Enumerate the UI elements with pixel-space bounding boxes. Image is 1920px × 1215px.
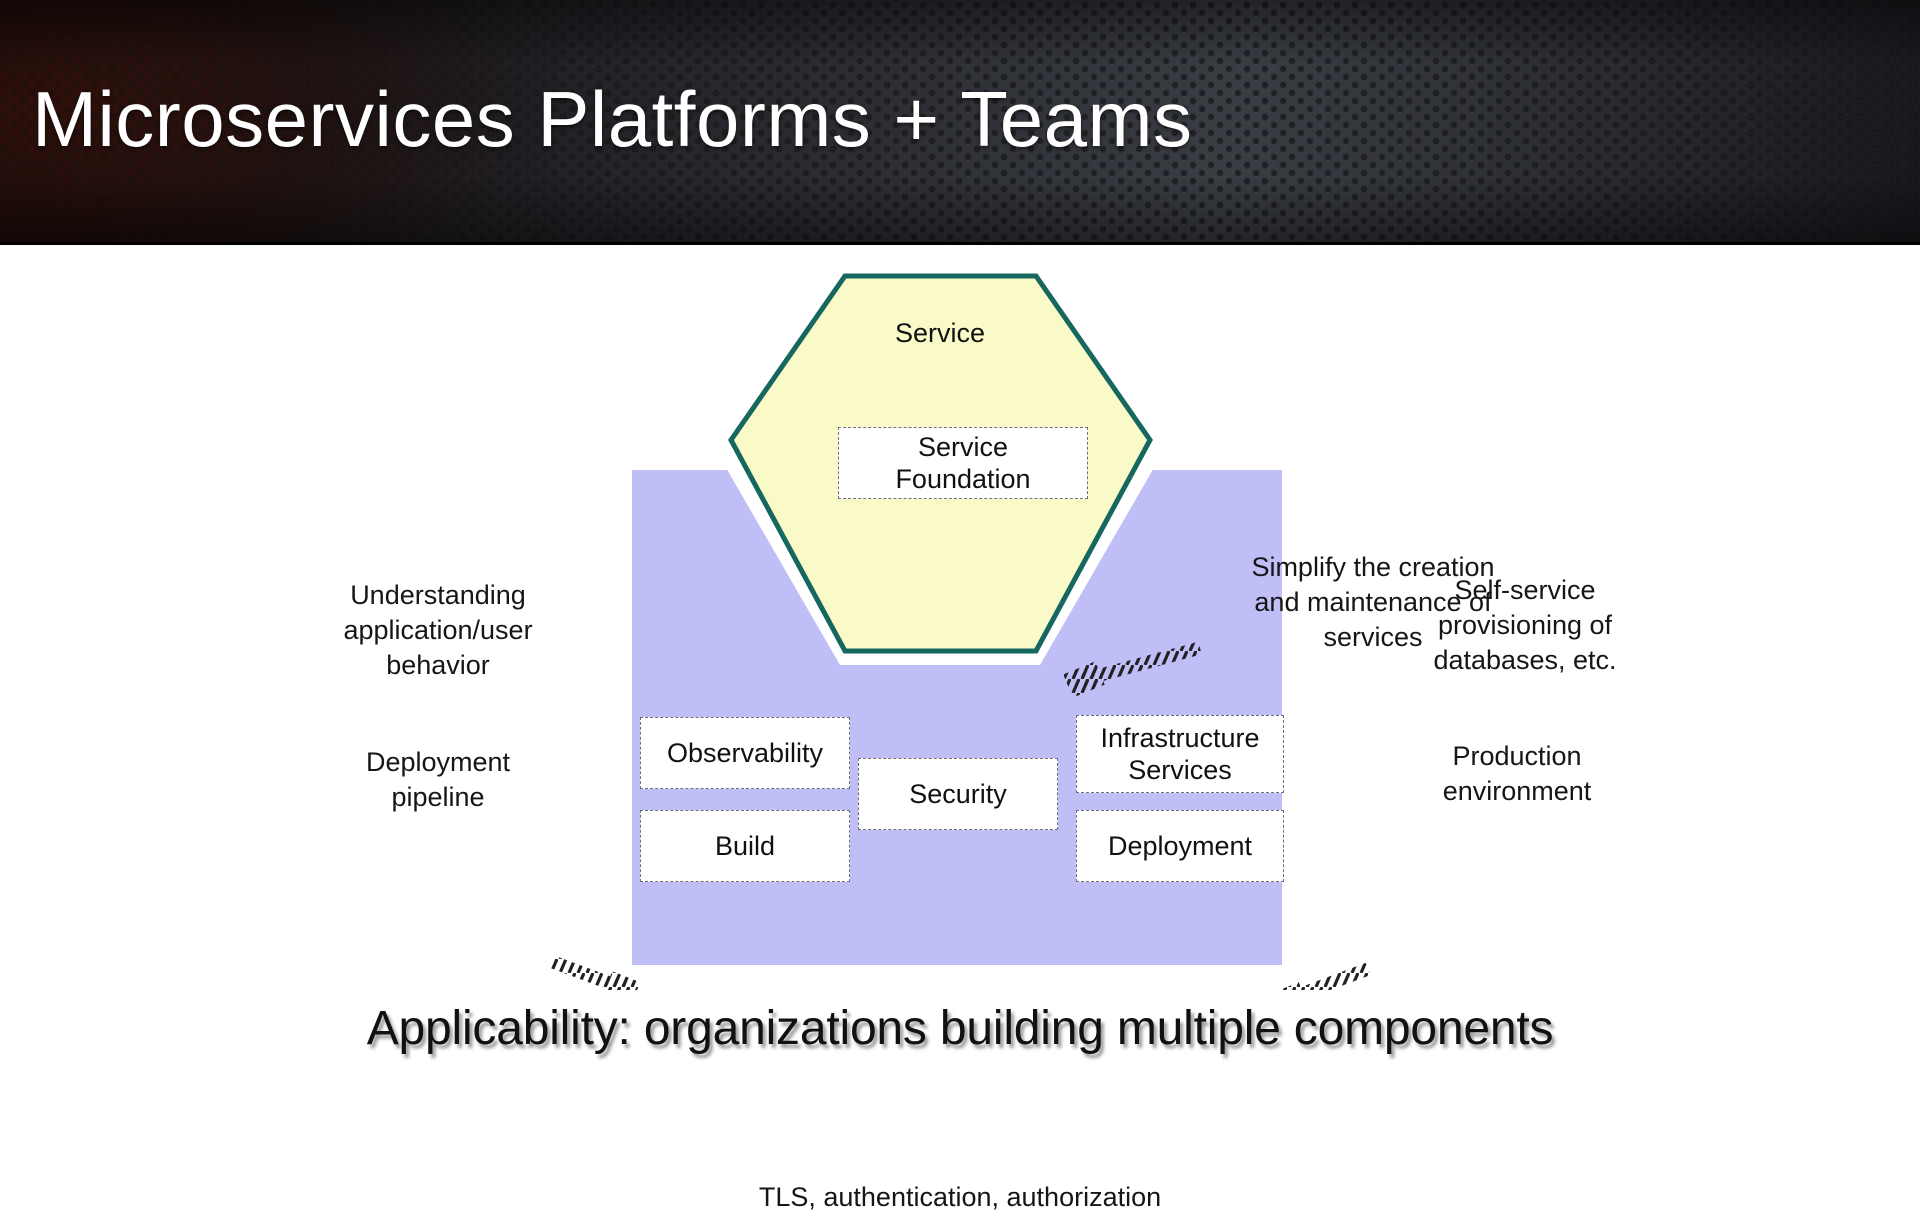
box-security[interactable]: Security: [858, 758, 1058, 830]
arrow-understanding: [553, 962, 636, 990]
platform-diagram: Service Service Foundation Observability…: [0, 245, 1920, 990]
annotation-self-service: Self-service provisioning of databases, …: [1390, 573, 1660, 678]
slide-caption: Applicability: organizations building mu…: [0, 1000, 1920, 1058]
box-build[interactable]: Build: [640, 810, 850, 882]
box-deployment[interactable]: Deployment: [1076, 810, 1284, 882]
slide-header: Microservices Platforms + Teams: [0, 0, 1920, 245]
box-service-foundation[interactable]: Service Foundation: [838, 427, 1088, 499]
arrow-self-service: [1275, 969, 1368, 990]
hexagon-label-service: Service: [880, 317, 1000, 349]
annotation-deployment-pipeline: Deployment pipeline: [328, 745, 548, 815]
page-title: Microservices Platforms + Teams: [32, 74, 1193, 164]
box-infrastructure-services[interactable]: Infrastructure Services: [1076, 715, 1284, 793]
annotation-understanding: Understanding application/user behavior: [318, 578, 558, 683]
box-observability[interactable]: Observability: [640, 717, 850, 789]
annotation-tls: TLS, authentication, authorization: [560, 1180, 1360, 1215]
annotation-production-environment: Production environment: [1392, 739, 1642, 809]
